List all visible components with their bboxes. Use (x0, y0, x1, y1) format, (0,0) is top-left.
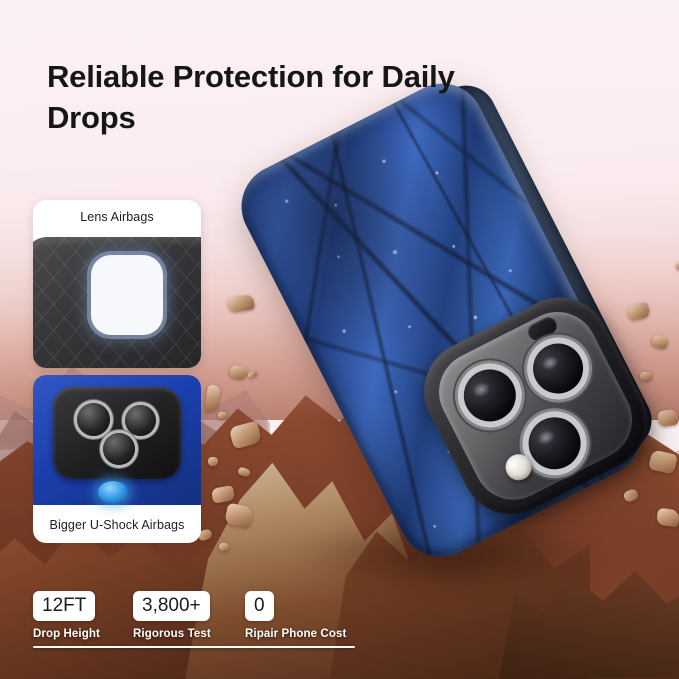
lens-cutout-raised-bezel (91, 255, 163, 335)
feature-card-caption: Lens Airbags (33, 210, 201, 224)
camera-lens-icon (524, 335, 591, 402)
stat-label: Rigorous Test (133, 628, 245, 640)
blue-case-closeup (33, 375, 201, 505)
camera-module-closeup (53, 387, 181, 479)
feature-card-u-shock-airbags: Bigger U-Shock Airbags (33, 375, 201, 543)
u-shock-airbag-highlight (98, 481, 128, 503)
stat-label: Ripair Phone Cost (245, 628, 358, 640)
stats-bar: 12FT Drop Height 3,800+ Rigorous Test 0 … (33, 591, 358, 648)
camera-lens-icon (77, 403, 110, 436)
stats-row: 12FT Drop Height 3,800+ Rigorous Test 0 … (33, 591, 358, 640)
stat-label: Drop Height (33, 628, 133, 640)
stat-item: 0 Ripair Phone Cost (245, 591, 358, 640)
camera-lens-icon (103, 433, 135, 465)
camera-lens-icon (455, 360, 525, 430)
stat-value: 3,800+ (133, 591, 210, 621)
stat-value: 12FT (33, 591, 95, 621)
product-feature-image: Reliable Protection for Daily Drops Lens… (0, 0, 679, 679)
stat-item: 3,800+ Rigorous Test (133, 591, 245, 640)
feature-card-lens-airbags: Lens Airbags (33, 200, 201, 368)
stat-value: 0 (245, 591, 274, 621)
stats-underline (33, 646, 355, 648)
stat-item: 12FT Drop Height (33, 591, 133, 640)
lidar-icon (525, 314, 559, 343)
camera-lens-icon (125, 405, 156, 436)
page-title: Reliable Protection for Daily Drops (47, 56, 477, 138)
feature-card-caption: Bigger U-Shock Airbags (33, 518, 201, 532)
